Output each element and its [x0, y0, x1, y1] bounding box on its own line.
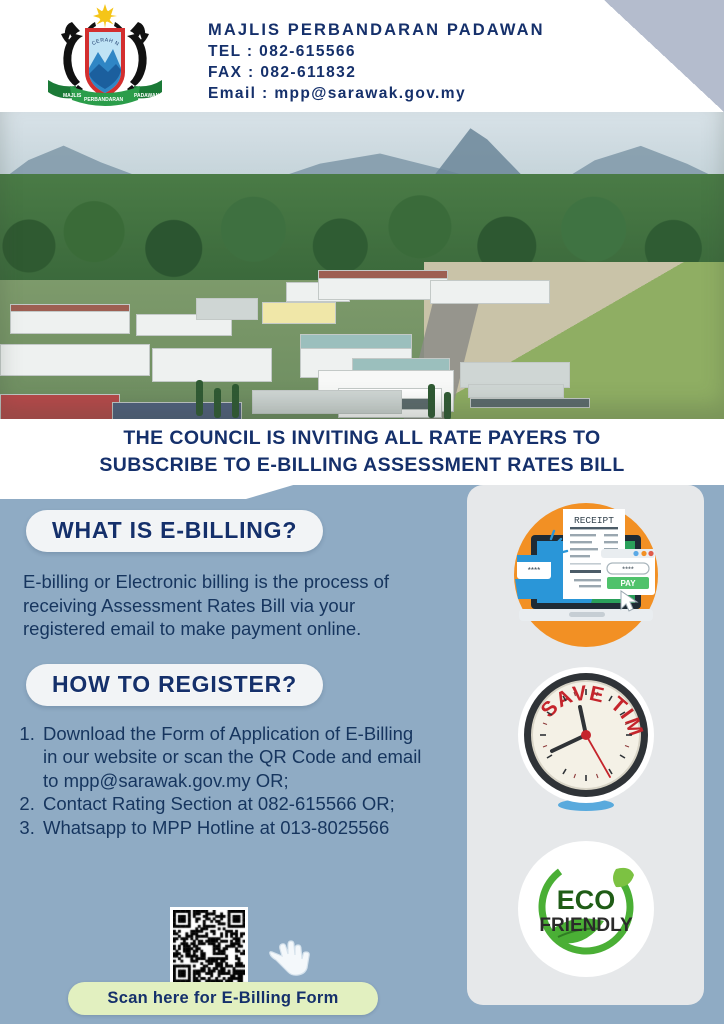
- email-line: Email : mpp@sarawak.gov.my: [208, 83, 545, 104]
- aerial-town-photo: [0, 112, 724, 419]
- pay-button-label: PAY: [620, 579, 636, 588]
- crest-motto-center: PERBANDARAN: [84, 97, 124, 103]
- photo-vignette: [0, 112, 724, 419]
- header-corner-decoration: [604, 0, 724, 112]
- eco-line-1: ECO: [556, 885, 615, 915]
- scan-here-button-label: Scan here for E-Billing Form: [107, 989, 338, 1008]
- what-is-ebilling-heading: WHAT IS E-BILLING?: [26, 510, 323, 552]
- telephone-line: TEL : 082-615566: [208, 41, 545, 62]
- content-area: WHAT IS E-BILLING? E-billing or Electron…: [0, 485, 724, 1024]
- list-item: Contact Rating Section at 082-615566 OR;: [40, 792, 428, 816]
- list-item: Download the Form of Application of E-Bi…: [40, 722, 428, 793]
- illustration-panel: RECEIPT ****: [467, 485, 704, 1005]
- how-to-register-steps: Download the Form of Application of E-Bi…: [40, 722, 428, 840]
- what-is-ebilling-body: E-billing or Electronic billing is the p…: [23, 570, 432, 641]
- poster-root: CERAH NERUH MAUNG MAJLIS PERBANDARAN PAD…: [0, 0, 724, 1024]
- qr-code[interactable]: [170, 907, 248, 985]
- list-item: Whatsapp to MPP Hotline at 013-8025566: [40, 816, 428, 840]
- how-to-register-heading: HOW TO REGISTER?: [26, 664, 323, 706]
- fax-line: FAX : 082-611832: [208, 62, 545, 83]
- header: CERAH NERUH MAUNG MAJLIS PERBANDARAN PAD…: [0, 0, 724, 112]
- how-to-register-heading-text: HOW TO REGISTER?: [52, 671, 297, 697]
- council-crest-icon: CERAH NERUH MAUNG MAJLIS PERBANDARAN PAD…: [30, 2, 180, 110]
- card-digits: ****: [527, 566, 539, 575]
- eco-friendly-badge-illustration: ECO FRIENDLY: [506, 833, 666, 993]
- qr-code-canvas[interactable]: [173, 910, 245, 982]
- online-payment-receipt-illustration: RECEIPT ****: [501, 493, 671, 658]
- what-is-ebilling-heading-text: WHAT IS E-BILLING?: [52, 517, 297, 543]
- payment-field-digits: ****: [622, 565, 634, 574]
- organisation-name: MAJLIS PERBANDARAN PADAWAN: [208, 20, 545, 41]
- scan-here-button[interactable]: Scan here for E-Billing Form: [68, 982, 378, 1015]
- crest-motto-left: MAJLIS: [63, 93, 82, 99]
- crest-motto-right: PADAWAN: [134, 93, 160, 99]
- save-time-clock-illustration: SAVE TIME: [510, 663, 662, 823]
- receipt-title: RECEIPT: [574, 515, 614, 526]
- eco-line-2: FRIENDLY: [539, 915, 633, 936]
- headline-line-2: SUBSCRIBE TO E-BILLING ASSESSMENT RATES …: [99, 454, 624, 476]
- headline-line-1: THE COUNCIL IS INVITING ALL RATE PAYERS …: [123, 427, 600, 449]
- headline-banner: THE COUNCIL IS INVITING ALL RATE PAYERS …: [0, 419, 724, 485]
- header-contact-block: MAJLIS PERBANDARAN PADAWAN TEL : 082-615…: [208, 20, 545, 104]
- pointing-hand-cursor-icon: [268, 932, 310, 978]
